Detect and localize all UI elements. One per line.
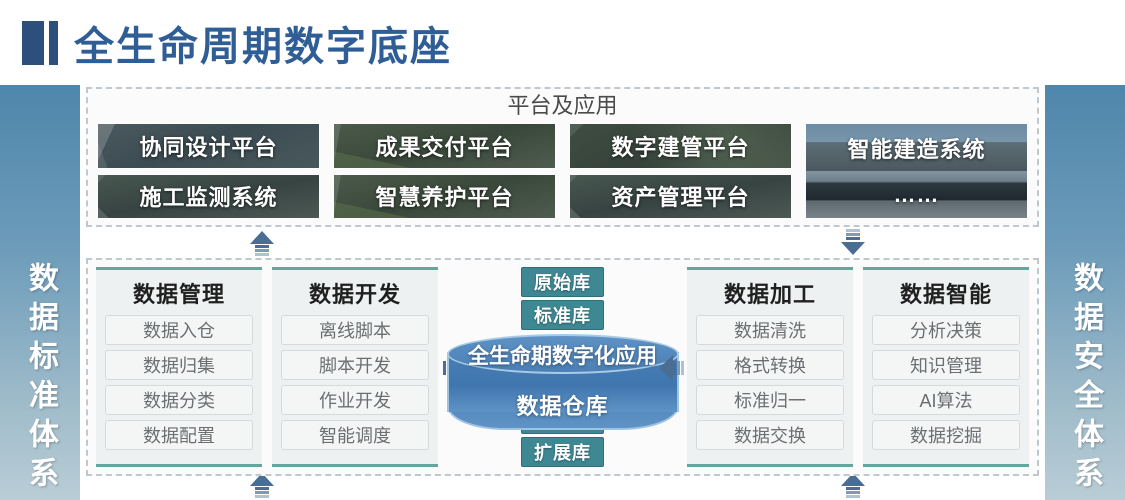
sidebar-left-label: 数据标准体系: [25, 262, 55, 496]
column-gap: [853, 267, 863, 467]
data-chip[interactable]: 数据配置: [105, 420, 253, 450]
platform-card-label: 数字建管平台: [611, 130, 749, 162]
data-chip[interactable]: 知识管理: [872, 350, 1020, 380]
arrow-down-icon-right: [841, 229, 865, 255]
data-chip[interactable]: 分析决策: [872, 315, 1020, 345]
platform-card-label: 资产管理平台: [611, 180, 749, 212]
warehouse-tags-top: 原始库 标准库: [521, 267, 604, 330]
sidebar-right-data-security: 数据安全体系: [1045, 85, 1125, 500]
data-column-data-processing: 数据加工 数据清洗 格式转换 标准归一 数据交换: [687, 267, 853, 467]
data-chip[interactable]: 格式转换: [696, 350, 844, 380]
column-gap: [262, 267, 272, 467]
arrow-tail-band: [846, 487, 860, 490]
arrow-tail-band: [255, 245, 269, 248]
ellipsis-label: ……: [894, 182, 940, 208]
platform-card-digital-construction-mgmt[interactable]: 数字建管平台: [569, 123, 792, 169]
data-columns-row: 数据管理 数据入仓 数据归集 数据分类 数据配置 数据开发 离线脚本 脚本开发 …: [96, 267, 1029, 467]
platform-card-more-ellipsis[interactable]: ……: [806, 171, 1027, 218]
platform-card-tall-smart-build[interactable]: 智能建造系统 ……: [805, 123, 1028, 219]
center-column: 平台及应用 协同设计平台 成果交付平台 数字建管平台: [86, 85, 1039, 500]
title-square-icon: [22, 21, 44, 65]
arrow-tail-band: [255, 253, 269, 256]
data-chip[interactable]: 离线脚本: [281, 315, 429, 345]
platform-card-grid: 协同设计平台 成果交付平台 数字建管平台 智能建造系统: [97, 123, 1028, 219]
platform-card-asset-management[interactable]: 资产管理平台: [569, 174, 792, 220]
platform-card-smart-maintenance[interactable]: 智慧养护平台: [333, 174, 556, 220]
data-chip[interactable]: AI算法: [872, 385, 1020, 415]
data-chip[interactable]: 数据交换: [696, 420, 844, 450]
platform-card-label: 协同设计平台: [139, 130, 277, 162]
cylinder-bottom-label: 数据仓库: [447, 389, 679, 421]
warehouse-tag[interactable]: 标准库: [521, 300, 604, 330]
data-chip[interactable]: 标准归一: [696, 385, 844, 415]
data-chip[interactable]: 数据入仓: [105, 315, 253, 345]
data-chip[interactable]: 智能调度: [281, 420, 429, 450]
platform-card-smart-build-system[interactable]: 智能建造系统: [806, 124, 1027, 171]
arrow-tail-band: [443, 361, 446, 375]
platform-and-applications-panel: 平台及应用 协同设计平台 成果交付平台 数字建管平台: [86, 87, 1039, 227]
arrow-tail-band: [255, 249, 269, 252]
architecture-diagram: 数据标准体系 数据安全体系 平台及应用 协同设计平台 成果交付平台: [0, 85, 1125, 500]
arrow-tail-band: [846, 491, 860, 494]
arrow-tail-band: [846, 233, 860, 236]
arrow-tail-band: [846, 229, 860, 232]
platform-card-deliverable[interactable]: 成果交付平台: [333, 123, 556, 169]
arrow-up-icon-bottom-right: [841, 473, 865, 499]
data-column-data-development: 数据开发 离线脚本 脚本开发 作业开发 智能调度: [272, 267, 438, 467]
column-title: 数据开发: [309, 277, 401, 309]
column-title: 数据管理: [133, 277, 225, 309]
platform-card-collab-design[interactable]: 协同设计平台: [97, 123, 320, 169]
sidebar-left-data-standard: 数据标准体系: [0, 85, 80, 500]
platform-card-label: 智慧养护平台: [375, 180, 513, 212]
arrow-tail-band: [681, 361, 684, 375]
arrow-head: [841, 242, 865, 255]
arrow-head: [250, 231, 274, 244]
arrow-up-icon-left: [250, 231, 274, 257]
data-chip[interactable]: 数据归集: [105, 350, 253, 380]
cylinder-top-label: 全生命期数字化应用: [447, 340, 679, 370]
data-chip[interactable]: 脚本开发: [281, 350, 429, 380]
data-chip[interactable]: 数据清洗: [696, 315, 844, 345]
column-title: 数据加工: [724, 277, 816, 309]
data-platform-panel: 数据管理 数据入仓 数据归集 数据分类 数据配置 数据开发 离线脚本 脚本开发 …: [86, 258, 1039, 476]
arrow-tail-band: [255, 487, 269, 490]
title-bar-icon: [49, 21, 58, 65]
data-column-data-intelligence: 数据智能 分析决策 知识管理 AI算法 数据挖掘: [863, 267, 1029, 467]
page-title: 全生命周期数字底座: [74, 14, 452, 72]
data-chip[interactable]: 数据分类: [105, 385, 253, 415]
arrow-tail-band: [255, 495, 269, 498]
arrow-tail-band: [255, 491, 269, 494]
arrow-tail-band: [846, 237, 860, 240]
data-warehouse-cylinder: 全生命期数字化应用 数据仓库: [447, 334, 679, 401]
title-accent-mark: [22, 21, 58, 65]
data-warehouse-center: 原始库 标准库 全生命期数字化应用: [438, 267, 687, 467]
platform-card-label: 智能建造系统: [847, 132, 985, 164]
data-column-data-management: 数据管理 数据入仓 数据归集 数据分类 数据配置: [96, 267, 262, 467]
arrow-up-icon-bottom-left: [250, 473, 274, 499]
platform-section-title: 平台及应用: [88, 89, 1037, 121]
column-title: 数据智能: [900, 277, 992, 309]
sidebar-right-label: 数据安全体系: [1070, 262, 1100, 496]
warehouse-tag[interactable]: 扩展库: [521, 437, 604, 467]
data-chip[interactable]: 作业开发: [281, 385, 429, 415]
platform-card-label: 施工监测系统: [139, 180, 277, 212]
platform-card-label: 成果交付平台: [375, 130, 513, 162]
title-bar: 全生命周期数字底座: [0, 0, 1125, 85]
arrow-tail-band: [846, 495, 860, 498]
warehouse-tag[interactable]: 原始库: [521, 267, 604, 297]
data-chip[interactable]: 数据挖掘: [872, 420, 1020, 450]
platform-card-construction-monitor[interactable]: 施工监测系统: [97, 174, 320, 220]
